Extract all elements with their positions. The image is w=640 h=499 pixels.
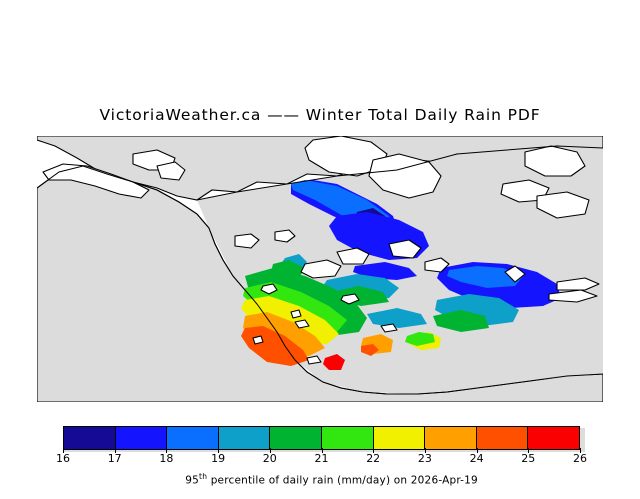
colorbar-segment-23-24[interactable] bbox=[425, 427, 477, 449]
colorbar-segment-16-17[interactable] bbox=[64, 427, 116, 449]
caption-rest: percentile of daily rain (mm/day) on 202… bbox=[207, 475, 478, 487]
colorbar-caption: 95th percentile of daily rain (mm/day) o… bbox=[57, 460, 585, 499]
colorbar-segments[interactable] bbox=[63, 426, 580, 450]
islet-warm-2 bbox=[253, 336, 263, 344]
map-panel[interactable] bbox=[37, 136, 603, 402]
colorbar-segment-22-23[interactable] bbox=[374, 427, 426, 449]
colorbar-segment-18-19[interactable] bbox=[167, 427, 219, 449]
islet-warm-1 bbox=[291, 310, 301, 318]
caption-prefix: 95 bbox=[185, 475, 199, 487]
weather-map-figure: VictoriaWeather.ca —— Winter Total Daily… bbox=[0, 0, 640, 480]
colorbar-segment-21-22[interactable] bbox=[322, 427, 374, 449]
colorbar-segment-24-25[interactable] bbox=[477, 427, 529, 449]
colorbar-segment-17-18[interactable] bbox=[116, 427, 168, 449]
colorbar-segment-25-26[interactable] bbox=[528, 427, 579, 449]
colorbar[interactable]: 1617181920212223242526 95th percentile o… bbox=[57, 424, 585, 478]
page-title: VictoriaWeather.ca —— Winter Total Daily… bbox=[0, 106, 640, 124]
colorbar-segment-20-21[interactable] bbox=[270, 427, 322, 449]
colorbar-segment-19-20[interactable] bbox=[219, 427, 271, 449]
map-canvas[interactable] bbox=[37, 136, 603, 402]
